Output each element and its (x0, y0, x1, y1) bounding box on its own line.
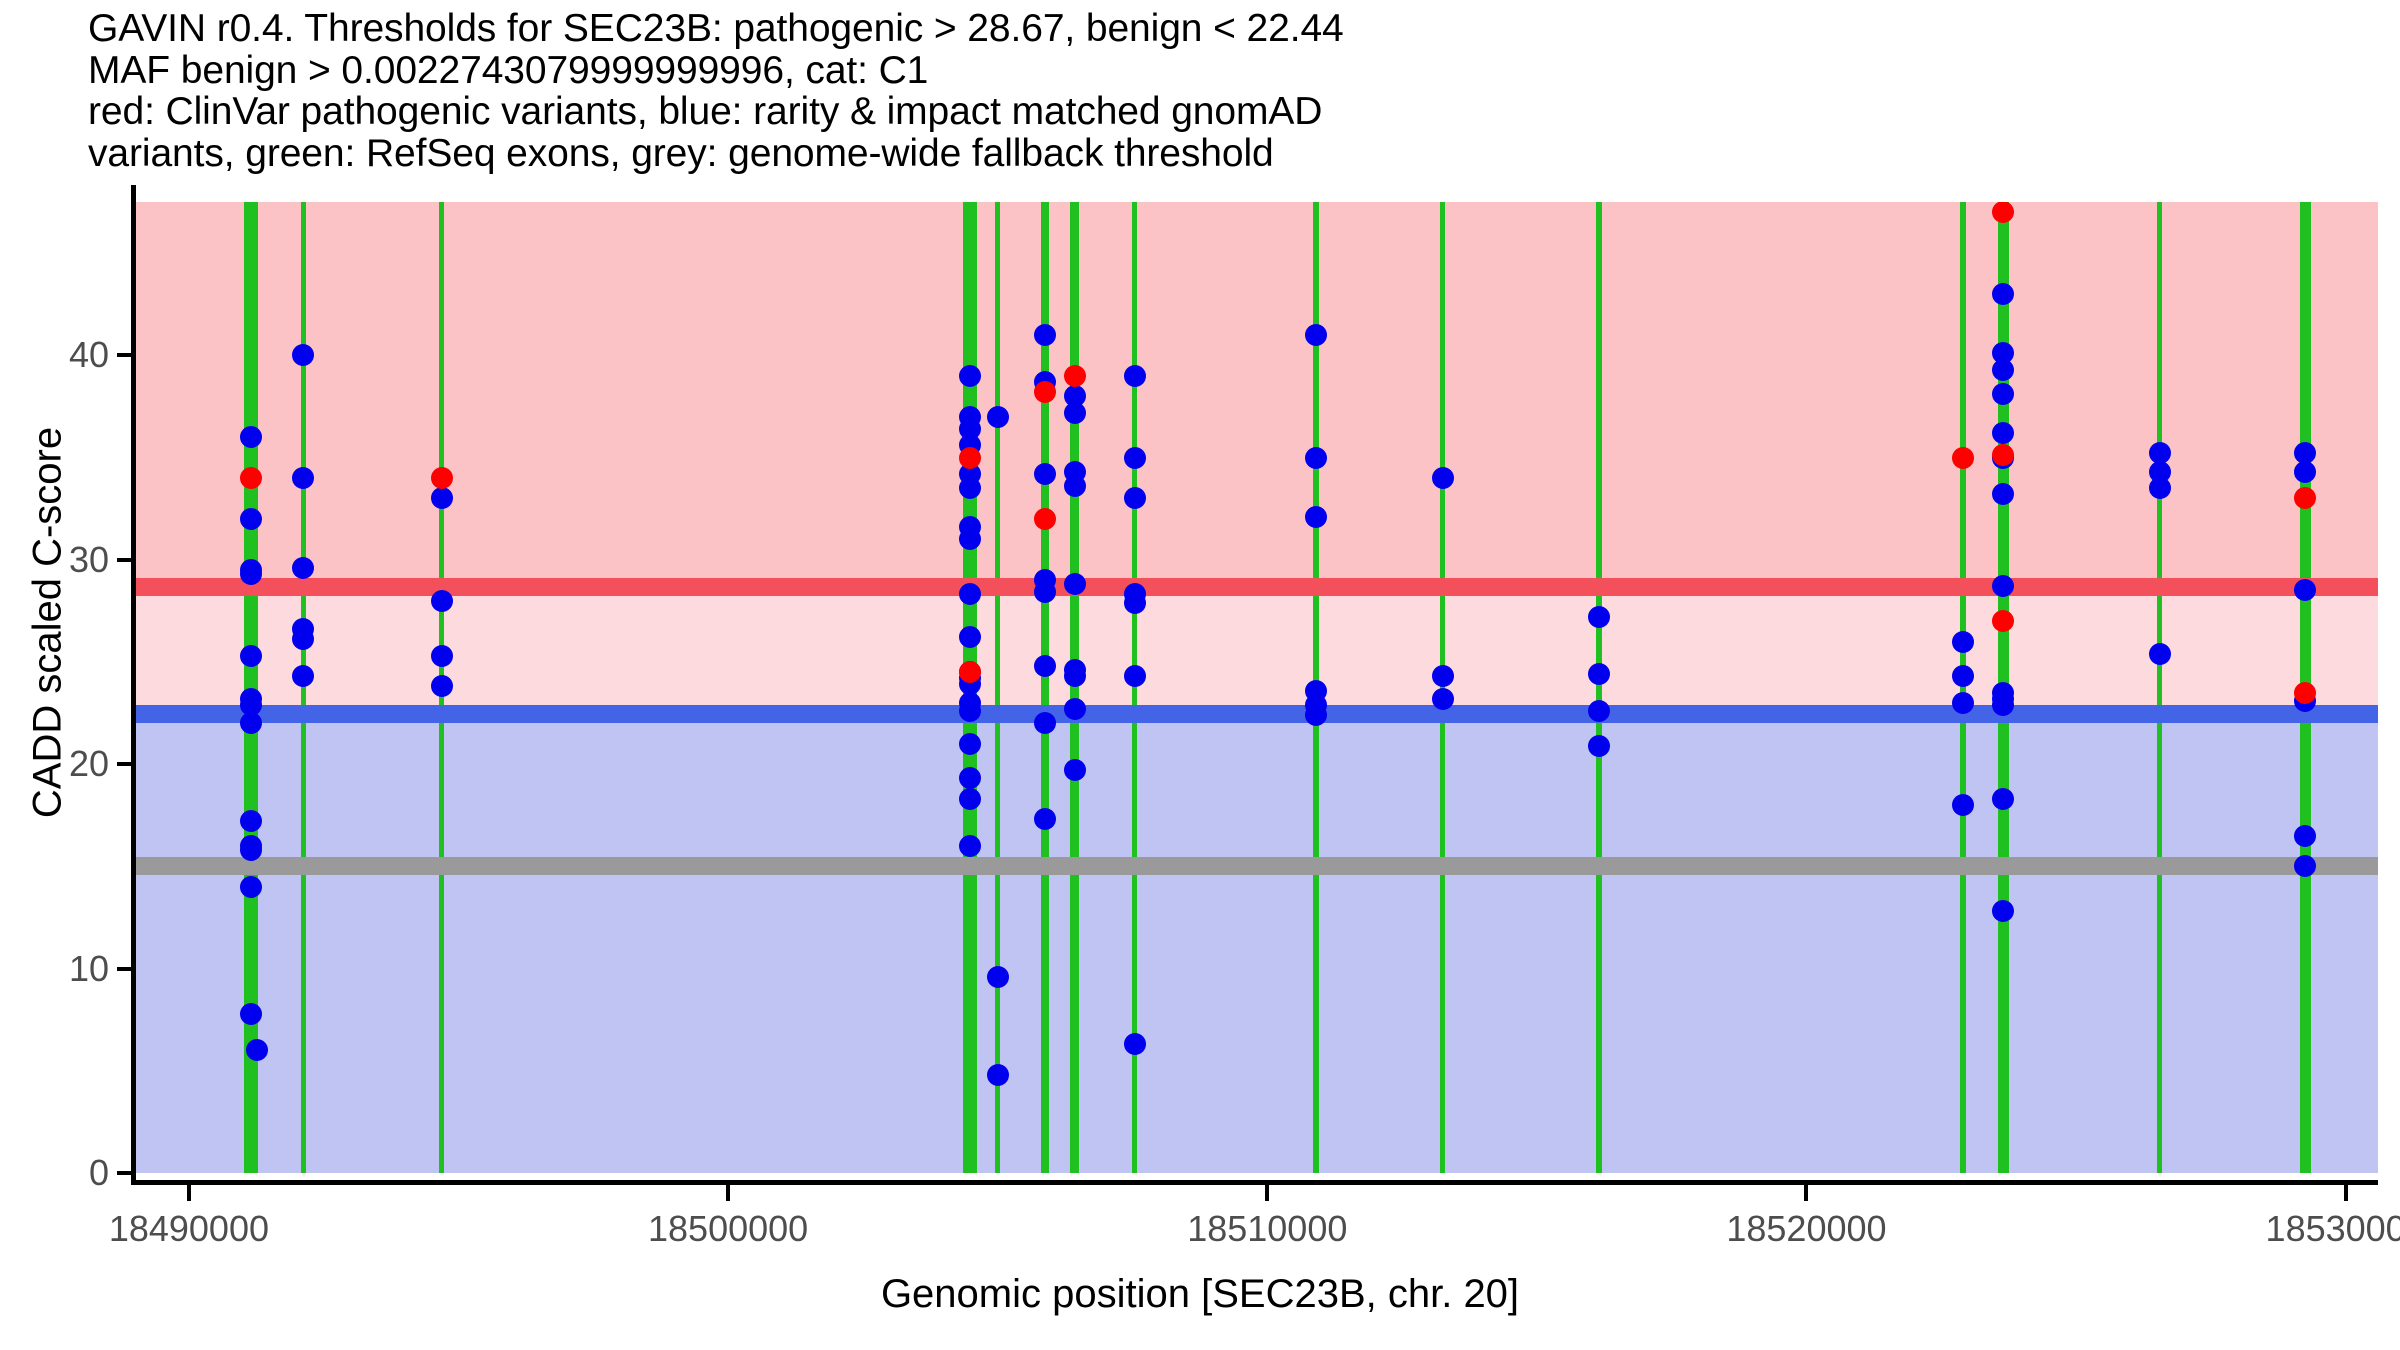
y-tick-label: 20 (69, 743, 109, 785)
benign-point (1588, 663, 1610, 685)
x-tick (2344, 1185, 2348, 1201)
y-tick (117, 762, 131, 766)
benign-point (2149, 477, 2171, 499)
benign-point (1034, 581, 1056, 603)
exon-line (995, 202, 1000, 1173)
benign-point (1064, 573, 1086, 595)
exon-line (1070, 202, 1079, 1173)
pathogenic-point (1064, 365, 1086, 387)
benign-point (1305, 447, 1327, 469)
benign-point (431, 590, 453, 612)
benign-point (959, 700, 981, 722)
benign-point (959, 528, 981, 550)
threshold-line-benign (135, 705, 2378, 723)
benign-point (987, 966, 1009, 988)
benign-point (987, 1064, 1009, 1086)
benign-point (1064, 665, 1086, 687)
benign-point (240, 839, 262, 861)
benign-point (959, 767, 981, 789)
benign-point (1952, 692, 1974, 714)
x-tick (187, 1185, 191, 1201)
y-tick (117, 1171, 131, 1175)
benign-point (240, 563, 262, 585)
benign-point (1034, 808, 1056, 830)
benign-point (1064, 698, 1086, 720)
benign-point (1064, 475, 1086, 497)
benign-point (292, 467, 314, 489)
chart-title-block: GAVIN r0.4. Thresholds for SEC23B: patho… (88, 8, 2368, 174)
benign-point (1305, 704, 1327, 726)
benign-point (1124, 487, 1146, 509)
band-pathogenic (135, 202, 2378, 587)
benign-point (1992, 694, 2014, 716)
x-tick (726, 1185, 730, 1201)
x-tick-label: 18510000 (1187, 1208, 1347, 1250)
x-axis-title: Genomic position [SEC23B, chr. 20] (0, 1272, 2400, 1317)
benign-point (1432, 665, 1454, 687)
x-tick (1265, 1185, 1269, 1201)
benign-point (1064, 402, 1086, 424)
benign-point (959, 477, 981, 499)
x-tick (1804, 1185, 1808, 1201)
benign-point (2294, 825, 2316, 847)
benign-point (1952, 794, 1974, 816)
x-tick-label: 18520000 (1726, 1208, 1886, 1250)
benign-point (431, 645, 453, 667)
pathogenic-point (1952, 447, 1974, 469)
x-tick-label: 18530000 (2266, 1208, 2400, 1250)
benign-point (1124, 447, 1146, 469)
benign-point (959, 626, 981, 648)
benign-point (1952, 631, 1974, 653)
pathogenic-point (240, 467, 262, 489)
benign-point (240, 645, 262, 667)
benign-point (1034, 712, 1056, 734)
benign-point (292, 557, 314, 579)
x-tick-label: 18500000 (648, 1208, 808, 1250)
benign-point (1064, 759, 1086, 781)
pathogenic-point (2294, 682, 2316, 704)
benign-point (1034, 324, 1056, 346)
title-line-2: MAF benign > 0.0022743079999999996, cat:… (88, 50, 2368, 92)
pathogenic-point (1034, 508, 1056, 530)
y-tick-label: 0 (89, 1152, 109, 1194)
benign-point (240, 876, 262, 898)
benign-point (2149, 643, 2171, 665)
benign-point (959, 788, 981, 810)
exon-line (1132, 202, 1137, 1173)
benign-point (2294, 461, 2316, 483)
pathogenic-point (959, 661, 981, 683)
chart-root: GAVIN r0.4. Thresholds for SEC23B: patho… (0, 0, 2400, 1350)
exon-line (1041, 202, 1049, 1173)
band-ambiguous (135, 587, 2378, 714)
title-line-1: GAVIN r0.4. Thresholds for SEC23B: patho… (88, 8, 2368, 50)
benign-point (1124, 365, 1146, 387)
benign-point (959, 835, 981, 857)
y-tick (117, 353, 131, 357)
pathogenic-point (431, 467, 453, 489)
pathogenic-point (959, 447, 981, 469)
y-tick (117, 967, 131, 971)
x-axis-line (131, 1180, 2378, 1185)
benign-point (1992, 788, 2014, 810)
benign-point (1124, 665, 1146, 687)
benign-point (1588, 735, 1610, 757)
benign-point (1034, 463, 1056, 485)
benign-point (1432, 688, 1454, 710)
threshold-line-pathogenic (135, 578, 2378, 596)
benign-point (1588, 700, 1610, 722)
threshold-line-fallback (135, 857, 2378, 875)
benign-point (959, 365, 981, 387)
benign-point (1305, 506, 1327, 528)
exon-line (2157, 202, 2162, 1173)
benign-point (1432, 467, 1454, 489)
benign-point (1588, 606, 1610, 628)
benign-point (1124, 1033, 1146, 1055)
plot-panel (135, 202, 2378, 1173)
benign-point (959, 583, 981, 605)
y-tick (117, 558, 131, 562)
title-line-3: red: ClinVar pathogenic variants, blue: … (88, 91, 2368, 133)
benign-point (1124, 592, 1146, 614)
band-benign (135, 714, 2378, 1173)
y-axis-title: CADD scaled C-score (26, 343, 71, 903)
y-axis-line (131, 185, 136, 1185)
exon-line (1596, 202, 1601, 1173)
benign-point (240, 508, 262, 530)
title-line-4: variants, green: RefSeq exons, grey: gen… (88, 133, 2368, 175)
y-tick-label: 10 (69, 948, 109, 990)
benign-point (959, 733, 981, 755)
y-tick-label: 40 (69, 334, 109, 376)
pathogenic-point (1034, 381, 1056, 403)
benign-point (240, 426, 262, 448)
benign-point (1305, 324, 1327, 346)
benign-point (240, 1003, 262, 1025)
y-tick-label: 30 (69, 539, 109, 581)
x-tick-label: 18490000 (109, 1208, 269, 1250)
benign-point (1992, 359, 2014, 381)
benign-point (1952, 665, 1974, 687)
exon-line (1960, 202, 1965, 1173)
benign-point (987, 406, 1009, 428)
benign-point (1034, 655, 1056, 677)
